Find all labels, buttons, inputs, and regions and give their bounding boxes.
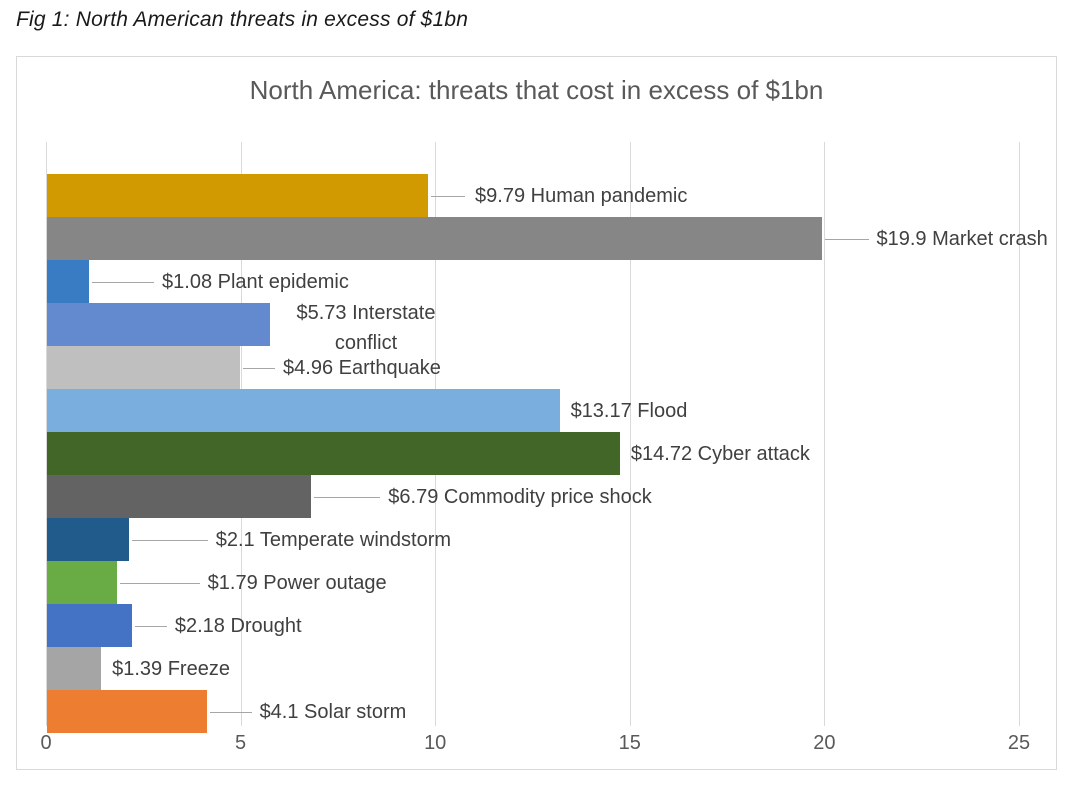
data-label: $2.1 Temperate windstorm (216, 527, 451, 553)
bar[interactable] (47, 217, 822, 260)
bar[interactable] (47, 389, 560, 432)
data-label: $1.39 Freeze (112, 656, 230, 682)
leader-line (243, 368, 275, 369)
axis-tick (824, 718, 825, 726)
data-label: $2.18 Drought (175, 613, 302, 639)
data-label: $1.79 Power outage (208, 570, 387, 596)
axis-tick (1019, 718, 1020, 726)
data-label: $6.79 Commodity price shock (388, 484, 651, 510)
bar-row[interactable] (47, 690, 1019, 733)
bar[interactable] (47, 303, 270, 346)
bar[interactable] (47, 260, 89, 303)
figure-caption: Fig 1: North American threats in excess … (16, 8, 468, 32)
leader-line (120, 583, 200, 584)
axis-tick (241, 718, 242, 726)
chart-container: North America: threats that cost in exce… (16, 56, 1057, 770)
x-tick-label: 20 (813, 732, 835, 755)
leader-line (825, 239, 869, 240)
data-label: $14.72 Cyber attack (631, 441, 810, 467)
bar[interactable] (47, 647, 101, 690)
leader-line (314, 497, 380, 498)
data-label: $9.79 Human pandemic (475, 183, 687, 209)
bar[interactable] (47, 174, 428, 217)
data-label: $4.96 Earthquake (283, 355, 441, 381)
x-tick-label: 25 (1008, 732, 1030, 755)
plot-area: $9.79 Human pandemic$19.9 Market crash$1… (46, 142, 1019, 718)
leader-line (210, 712, 252, 713)
leader-line (431, 196, 465, 197)
leader-line (132, 540, 208, 541)
bar[interactable] (47, 475, 311, 518)
data-label: $5.73 Interstate conflict (281, 298, 451, 358)
chart-title: North America: threats that cost in exce… (17, 75, 1056, 106)
bar[interactable] (47, 346, 240, 389)
x-tick-label: 0 (40, 732, 51, 755)
x-tick-label: 5 (235, 732, 246, 755)
axis-tick (435, 718, 436, 726)
bar-row[interactable] (47, 389, 1019, 432)
leader-line (135, 626, 167, 627)
bar-series (47, 174, 1019, 733)
data-label: $1.08 Plant epidemic (162, 269, 349, 295)
data-label: $19.9 Market crash (877, 226, 1048, 252)
data-label: $13.17 Flood (571, 398, 688, 424)
axis-tick (630, 718, 631, 726)
bar[interactable] (47, 518, 129, 561)
bar[interactable] (47, 432, 620, 475)
x-tick-label: 10 (424, 732, 446, 755)
bar-row[interactable] (47, 346, 1019, 389)
bar-row[interactable] (47, 217, 1019, 260)
figure-page: Fig 1: North American threats in excess … (0, 0, 1074, 788)
bar[interactable] (47, 561, 117, 604)
axis-tick (46, 718, 47, 726)
bar[interactable] (47, 604, 132, 647)
bar[interactable] (47, 690, 207, 733)
x-tick-label: 15 (619, 732, 641, 755)
bar-row[interactable] (47, 303, 1019, 346)
leader-line (92, 282, 154, 283)
data-label: $4.1 Solar storm (260, 699, 407, 725)
bar-row[interactable] (47, 432, 1019, 475)
